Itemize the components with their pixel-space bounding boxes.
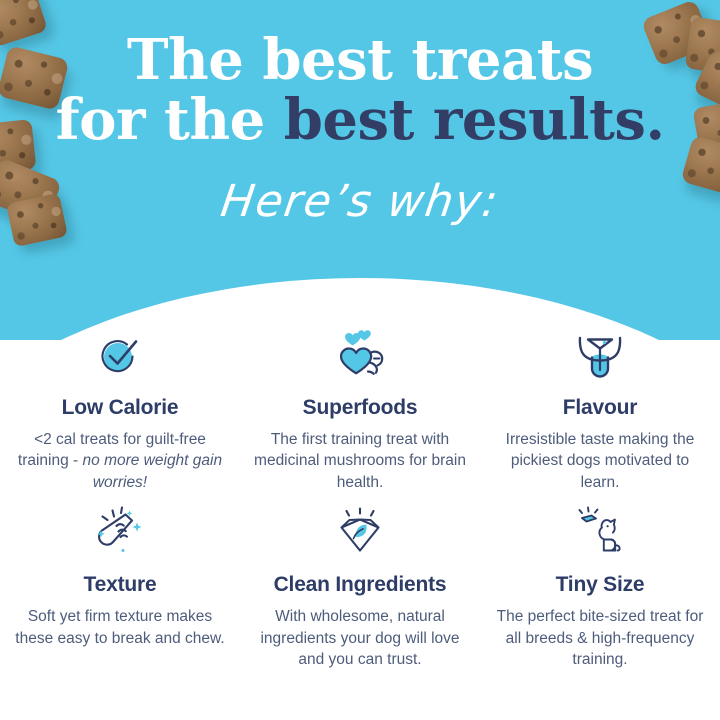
snapping-hand-sparkle-icon [84, 503, 156, 561]
feature-card-tiny-size: Tiny Size The perfect bite-sized treat f… [480, 503, 720, 670]
feature-description: The perfect bite-sized treat for all bre… [494, 606, 706, 670]
hero-script-subhead: Here’s why: [0, 176, 720, 227]
feature-title: Superfoods [303, 396, 418, 420]
dog-snout-tongue-icon [564, 326, 636, 386]
feature-title: Clean Ingredients [274, 573, 447, 597]
headline-line-2-navy: best results. [284, 87, 665, 153]
feature-card-superfoods: Superfoods The first training treat with… [240, 326, 480, 493]
feature-title: Tiny Size [556, 573, 645, 597]
sitting-dog-treat-icon [564, 503, 636, 561]
feature-desc-italic: no more weight gain worries! [83, 452, 223, 490]
feature-card-flavour: Flavour Irresistible taste making the pi… [480, 326, 720, 493]
feature-grid: Low Calorie <2 cal treats for guilt-free… [0, 326, 720, 670]
feature-title: Flavour [563, 396, 637, 420]
feature-description: The first training treat with medicinal … [254, 429, 466, 493]
feature-description: Soft yet firm texture makes these easy t… [14, 606, 226, 649]
feature-title: Low Calorie [62, 396, 179, 420]
hero-headline: The best treats for the best results. [0, 34, 720, 148]
feature-card-low-calorie: Low Calorie <2 cal treats for guilt-free… [0, 326, 240, 493]
headline-line-2-white: for the [56, 87, 284, 153]
headline-line-1: The best treats [127, 27, 593, 93]
feature-title: Texture [84, 573, 157, 597]
feature-description: <2 cal treats for guilt-free training - … [14, 429, 226, 493]
feature-card-clean-ingredients: Clean Ingredients With wholesome, natura… [240, 503, 480, 670]
heart-bicep-icon [324, 326, 396, 386]
feature-card-texture: Texture Soft yet firm texture makes thes… [0, 503, 240, 670]
check-circle-icon [84, 326, 156, 386]
hero-banner: The best treats for the best results. He… [0, 0, 720, 340]
headline-line-2: for the best results. [0, 94, 720, 148]
feature-description: Irresistible taste making the pickiest d… [494, 429, 706, 493]
feature-description: With wholesome, natural ingredients your… [254, 606, 466, 670]
promo-poster: The best treats for the best results. He… [0, 0, 720, 720]
gem-leaf-icon [324, 503, 396, 561]
